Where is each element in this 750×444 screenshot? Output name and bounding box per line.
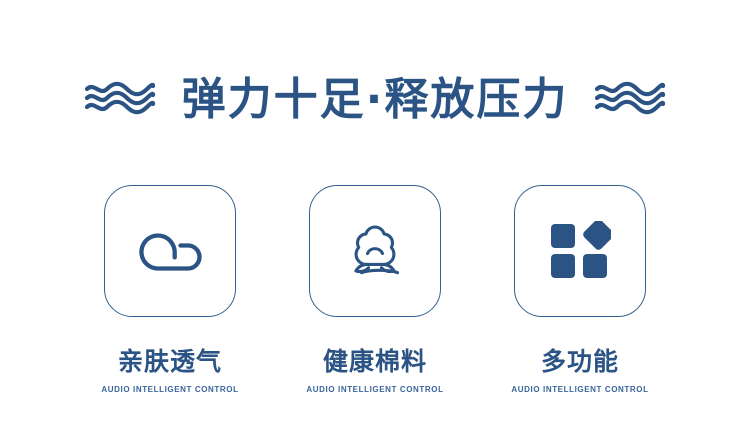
feature-label: 多功能: [541, 349, 619, 374]
feature-subtitle: AUDIO INTELLIGENT CONTROL: [306, 386, 443, 394]
feature-icon-card[interactable]: [104, 185, 236, 317]
blocks-grid-icon: [549, 221, 611, 281]
feature-icon-card[interactable]: [514, 185, 646, 317]
feature-item[interactable]: 亲肤透气 AUDIO INTELLIGENT CONTROL: [104, 185, 236, 394]
feature-item[interactable]: 多功能 AUDIO INTELLIGENT CONTROL: [514, 185, 646, 394]
feature-subtitle: AUDIO INTELLIGENT CONTROL: [511, 386, 648, 394]
cotton-boll-icon: [343, 220, 407, 282]
feature-icon-card[interactable]: [309, 185, 441, 317]
page-title: 弹力十足·释放压力: [182, 78, 569, 122]
feature-list: 亲肤透气 AUDIO INTELLIGENT CONTROL 健康棉料 AUDI…: [0, 185, 750, 394]
feature-item[interactable]: 健康棉料 AUDIO INTELLIGENT CONTROL: [309, 185, 441, 394]
page-header: 弹力十足·释放压力: [0, 62, 750, 138]
wave-lines-right-icon: [594, 80, 666, 121]
feature-subtitle: AUDIO INTELLIGENT CONTROL: [101, 386, 238, 394]
feature-label: 健康棉料: [323, 349, 427, 374]
cloud-icon: [136, 225, 204, 277]
feature-label: 亲肤透气: [118, 349, 222, 374]
wave-lines-left-icon: [84, 80, 156, 121]
